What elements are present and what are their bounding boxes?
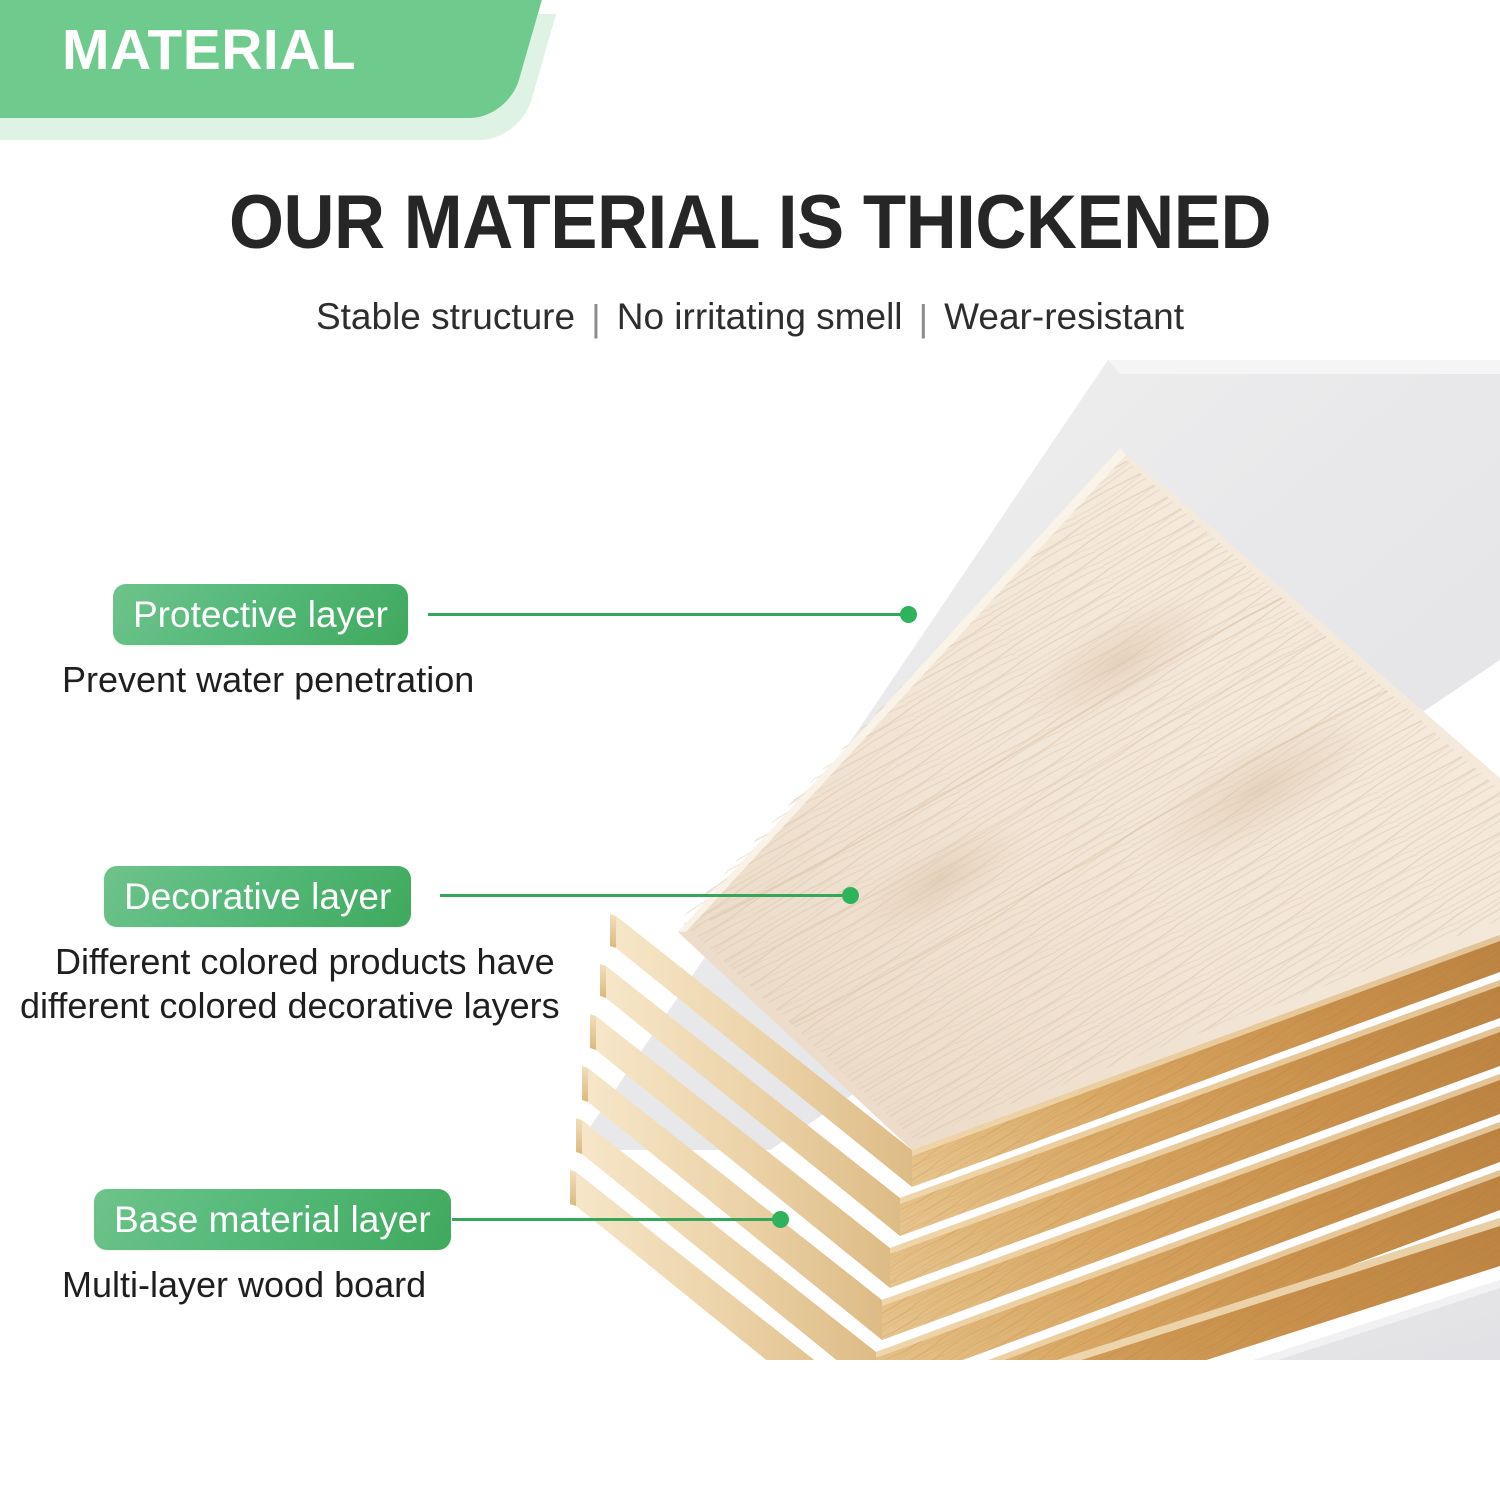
callout-description: Different colored products have bbox=[55, 940, 555, 984]
feature-item-2: Wear-resistant bbox=[944, 296, 1184, 337]
feature-item-1: No irritating smell bbox=[617, 296, 903, 337]
leader-endpoint-dot bbox=[772, 1211, 789, 1228]
leader-line bbox=[440, 894, 850, 897]
banner-label: MATERIAL bbox=[62, 22, 356, 79]
infographic-root: MATERIAL OUR MATERIAL IS THICKENED Stabl… bbox=[0, 0, 1500, 1500]
feature-list: Stable structure|No irritating smell|Wea… bbox=[0, 296, 1500, 338]
badge-protective-layer[interactable]: Protective layer bbox=[113, 584, 408, 645]
leader-line bbox=[428, 613, 908, 616]
feature-separator: | bbox=[591, 298, 601, 340]
product-illustration bbox=[560, 360, 1500, 1360]
leader-line bbox=[452, 1218, 782, 1221]
feature-item-0: Stable structure bbox=[316, 296, 575, 337]
feature-separator: | bbox=[919, 298, 929, 340]
leader-endpoint-dot bbox=[900, 606, 917, 623]
callout-description: Multi-layer wood board bbox=[62, 1263, 426, 1307]
callout-description-line2: different colored decorative layers bbox=[20, 984, 560, 1028]
page-title: OUR MATERIAL IS THICKENED bbox=[53, 185, 1448, 261]
badge-base-material-layer[interactable]: Base material layer bbox=[94, 1189, 451, 1250]
leader-endpoint-dot bbox=[842, 887, 859, 904]
badge-decorative-layer[interactable]: Decorative layer bbox=[104, 866, 411, 927]
callout-description: Prevent water penetration bbox=[62, 658, 474, 702]
